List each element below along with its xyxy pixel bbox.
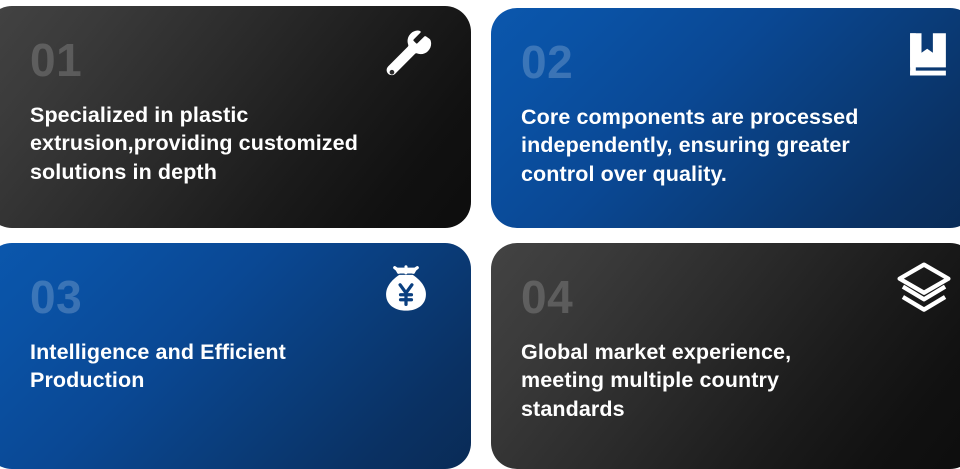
feature-card-01[interactable]: 01 Specialized in plastic extrusion,prov… xyxy=(0,6,471,228)
feature-card-03-number: 03 xyxy=(30,263,441,320)
feature-card-04-text: Global market experience, meeting multip… xyxy=(521,320,946,423)
feature-card-01-text: Specialized in plastic extrusion,providi… xyxy=(30,83,441,186)
feature-card-04-inner: 04 Global market experience, meeting mul… xyxy=(491,243,960,469)
feature-card-02-inner: 02 Core components are processed indepen… xyxy=(491,8,960,228)
feature-card-03-inner: 03 Intelligence and Efficient Production xyxy=(0,243,471,469)
feature-card-03-text: Intelligence and Efficient Production xyxy=(30,320,441,395)
feature-card-04-number: 04 xyxy=(521,263,946,320)
feature-card-02-text: Core components are processed independen… xyxy=(521,85,946,188)
feature-card-03[interactable]: 03 Intelligence and Efficient Production xyxy=(0,243,471,469)
feature-card-04[interactable]: 04 Global market experience, meeting mul… xyxy=(491,243,960,469)
feature-card-02[interactable]: 02 Core components are processed indepen… xyxy=(491,8,960,228)
feature-card-02-number: 02 xyxy=(521,28,946,85)
feature-card-01-number: 01 xyxy=(30,26,441,83)
feature-card-grid: 01 Specialized in plastic extrusion,prov… xyxy=(0,0,960,459)
feature-card-01-inner: 01 Specialized in plastic extrusion,prov… xyxy=(0,6,471,228)
